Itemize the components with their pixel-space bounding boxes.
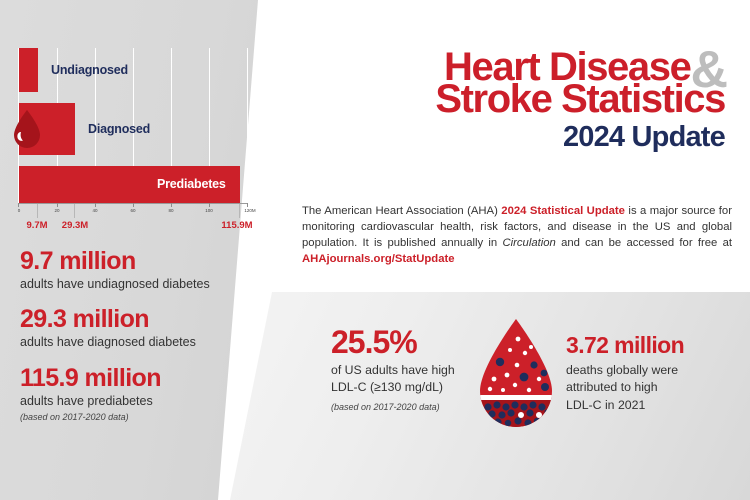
tick-label-80: 80 xyxy=(168,208,173,213)
stat-prediabetes: 115.9 million adults have prediabetes (b… xyxy=(20,364,270,422)
stat-diagnosed-number: 29.3 million xyxy=(20,305,270,333)
title-line-2: Stroke Statistics xyxy=(285,79,725,119)
stat-diagnosed: 29.3 million adults have diagnosed diabe… xyxy=(20,305,270,350)
blood-drop-small-icon xyxy=(12,110,42,148)
stat-prediabetes-number: 115.9 million xyxy=(20,364,270,392)
ldl-percent-value: 25.5% xyxy=(331,326,486,358)
blood-drop-large-icon xyxy=(474,317,558,433)
callout-line-diagnosed xyxy=(74,204,75,218)
tick-label-20: 20 xyxy=(54,208,59,213)
tick-label-100: 100 xyxy=(205,208,213,213)
callout-diagnosed: 29.3M xyxy=(62,220,88,231)
title-line-3: 2024 Update xyxy=(285,121,725,154)
tick-label-0: 0 xyxy=(18,208,21,213)
para-italic-journal: Circulation xyxy=(502,237,555,249)
stat-prediabetes-desc: adults have prediabetes xyxy=(20,393,270,409)
bar-undiagnosed xyxy=(19,48,38,92)
gridline-120 xyxy=(247,48,248,203)
tick-label-120: 120M xyxy=(244,208,255,213)
chart-plot-area: Undiagnosed Diagnosed Prediabetes 0 20 4… xyxy=(18,48,248,203)
tick-80 xyxy=(171,203,172,207)
global-deaths-text: deaths globally were attributed to high … xyxy=(566,362,746,414)
ldl-percent-stat: 25.5% of US adults have high LDL-C (≥130… xyxy=(331,326,486,412)
page-title: Heart Disease& Stroke Statistics 2024 Up… xyxy=(285,38,725,154)
tick-40 xyxy=(95,203,96,207)
infographic-root: Undiagnosed Diagnosed Prediabetes 0 20 4… xyxy=(0,0,750,500)
callout-line-undiagnosed xyxy=(37,204,38,218)
ldl-percent-note: (based on 2017-2020 data) xyxy=(331,402,486,412)
stat-diagnosed-desc: adults have diagnosed diabetes xyxy=(20,334,270,350)
diabetes-stats-list: 9.7 million adults have undiagnosed diab… xyxy=(20,247,270,435)
para-highlight: 2024 Statistical Update xyxy=(501,205,625,217)
global-deaths-line-2: attributed to high xyxy=(566,379,746,396)
bar-label-diagnosed: Diagnosed xyxy=(88,122,150,136)
description-paragraph: The American Heart Association (AHA) 202… xyxy=(302,203,732,267)
tick-20 xyxy=(57,203,58,207)
tick-100 xyxy=(209,203,210,207)
tick-120 xyxy=(247,203,248,207)
para-part-3: and can be accessed for free at xyxy=(556,237,732,249)
tick-60 xyxy=(133,203,134,207)
tick-0 xyxy=(18,203,19,207)
global-deaths-stat: 3.72 million deaths globally were attrib… xyxy=(566,334,746,414)
tick-label-40: 40 xyxy=(92,208,97,213)
callout-line-prediabetes xyxy=(239,204,240,218)
bar-label-prediabetes: Prediabetes xyxy=(157,177,226,191)
global-deaths-value: 3.72 million xyxy=(566,334,746,357)
ldl-percent-line-1: of US adults have high xyxy=(331,362,486,379)
para-part-1: The American Heart Association (AHA) xyxy=(302,205,501,217)
callout-undiagnosed: 9.7M xyxy=(26,220,47,231)
bar-label-undiagnosed: Undiagnosed xyxy=(51,63,128,77)
ldl-percent-line-2: LDL-C (≥130 mg/dL) xyxy=(331,379,486,396)
stat-prediabetes-note: (based on 2017-2020 data) xyxy=(20,412,270,422)
callout-prediabetes: 115.9M xyxy=(221,220,252,231)
aha-journals-link[interactable]: AHAjournals.org/StatUpdate xyxy=(302,253,455,265)
diabetes-bar-chart: Undiagnosed Diagnosed Prediabetes 0 20 4… xyxy=(18,48,248,213)
global-deaths-line-1: deaths globally were xyxy=(566,362,746,379)
global-deaths-line-3: LDL-C in 2021 xyxy=(566,397,746,414)
stat-undiagnosed-number: 9.7 million xyxy=(20,247,270,275)
ldl-percent-text: of US adults have high LDL-C (≥130 mg/dL… xyxy=(331,362,486,397)
tick-label-60: 60 xyxy=(130,208,135,213)
stat-undiagnosed: 9.7 million adults have undiagnosed diab… xyxy=(20,247,270,292)
stat-undiagnosed-desc: adults have undiagnosed diabetes xyxy=(20,276,270,292)
